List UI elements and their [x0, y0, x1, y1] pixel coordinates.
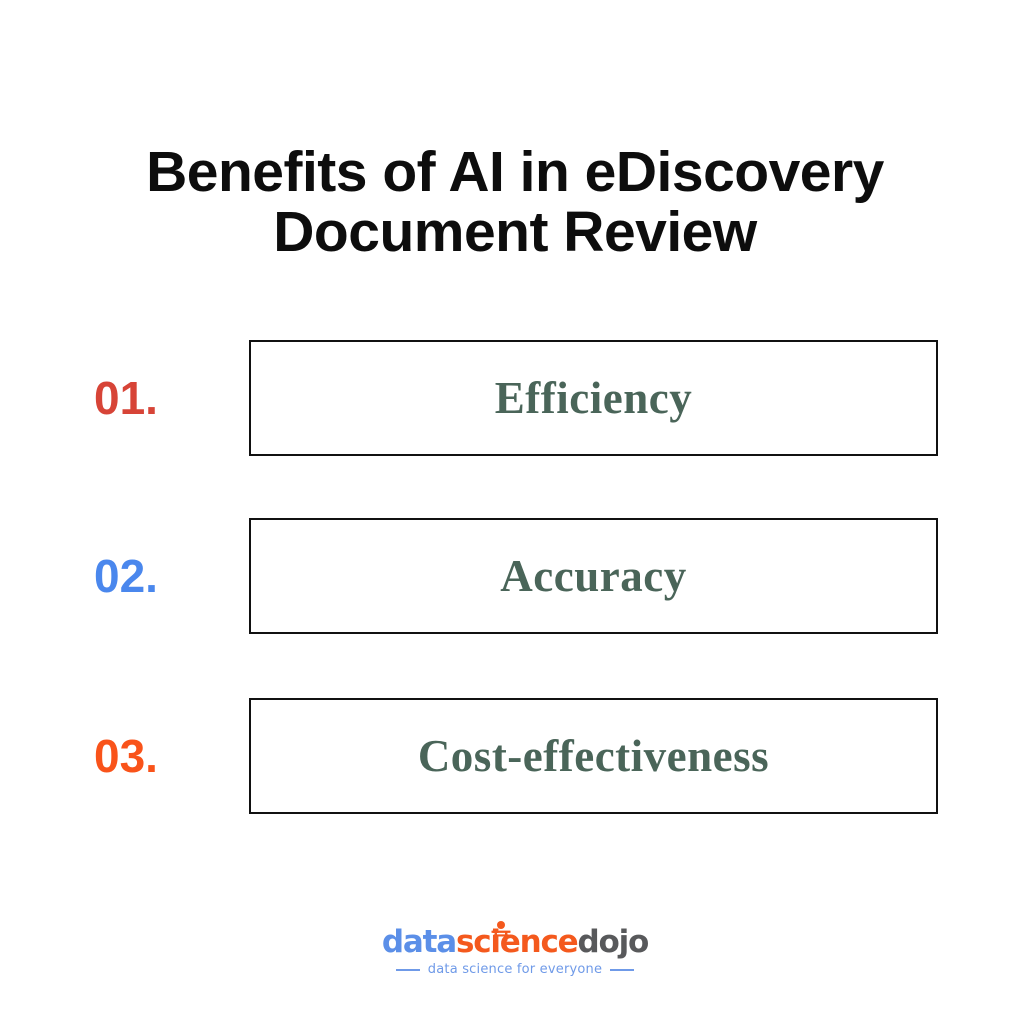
- infographic-canvas: Benefits of AI in eDiscovery Document Re…: [0, 0, 1030, 1030]
- benefit-number: 01.: [94, 340, 158, 456]
- benefit-number-text: 01.: [94, 371, 158, 425]
- page-title: Benefits of AI in eDiscovery Document Re…: [60, 143, 970, 261]
- page-title-line-1: Benefits of AI in eDiscovery: [60, 143, 970, 201]
- brand-logo[interactable]: datasciencedojo data science for everyon…: [0, 925, 1030, 977]
- benefit-number: 02.: [94, 518, 158, 634]
- benefit-number: 03.: [94, 698, 158, 814]
- logo-word-dojo: dojo: [578, 925, 649, 959]
- benefit-row: 03. Cost-effectiveness: [0, 698, 1030, 814]
- benefit-label: Cost-effectiveness: [418, 730, 769, 782]
- benefit-box[interactable]: Accuracy: [249, 518, 938, 634]
- benefit-row: 01. Efficiency: [0, 340, 1030, 456]
- tagline-dash-right: [610, 969, 634, 971]
- tagline-dash-left: [396, 969, 420, 971]
- benefit-label: Efficiency: [495, 372, 692, 424]
- benefit-number-text: 02.: [94, 549, 158, 603]
- logo-word-science-wrap: science: [456, 925, 578, 959]
- logo-word-data: data: [382, 925, 456, 959]
- logo-word-science: science: [456, 924, 578, 960]
- page-title-line-2: Document Review: [60, 203, 970, 261]
- benefit-number-text: 03.: [94, 729, 158, 783]
- logo-wordmark: datasciencedojo: [382, 925, 648, 959]
- logo-tagline-row: data science for everyone: [0, 962, 1030, 977]
- benefit-label: Accuracy: [500, 550, 686, 602]
- benefit-box[interactable]: Cost-effectiveness: [249, 698, 938, 814]
- logo-tagline-text: data science for everyone: [428, 962, 602, 977]
- benefit-row: 02. Accuracy: [0, 518, 1030, 634]
- benefit-box[interactable]: Efficiency: [249, 340, 938, 456]
